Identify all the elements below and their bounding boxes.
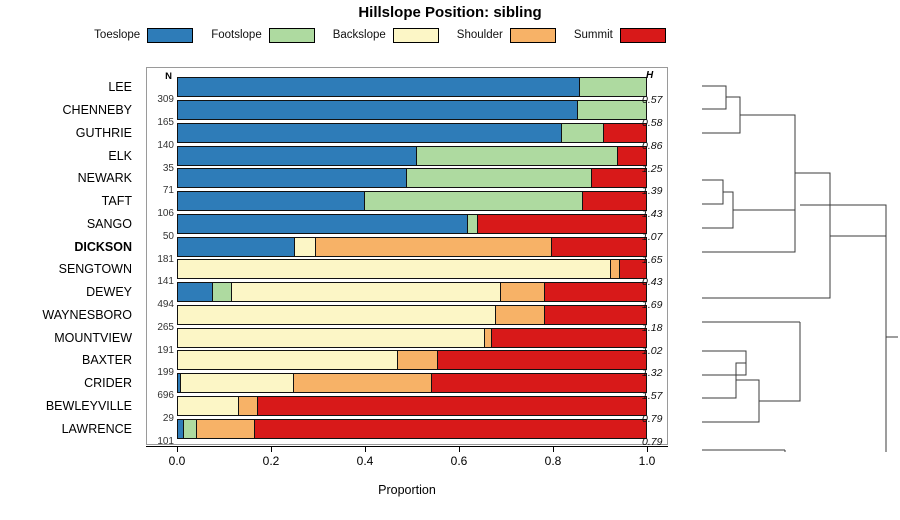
bar-segment-shoulder[interactable] (611, 260, 620, 278)
category-label: BAXTER (82, 354, 132, 367)
bar-segment-summit[interactable] (255, 420, 646, 438)
bar-segment-footslope[interactable] (417, 147, 618, 165)
legend-swatch-footslope (269, 28, 315, 43)
category-label: SANGO (87, 218, 132, 231)
x-tick-label: 0.8 (533, 454, 573, 468)
h-value: 1.02 (642, 346, 662, 357)
bar-segment-footslope[interactable] (468, 215, 477, 233)
h-value: 1.18 (642, 323, 662, 334)
x-tick (271, 446, 272, 452)
table-row[interactable] (177, 259, 647, 279)
stacked-bars (146, 67, 668, 445)
bar-segment-backslope[interactable] (178, 329, 485, 347)
h-value: 1.57 (642, 391, 662, 402)
bar-segment-backslope[interactable] (295, 238, 316, 256)
legend-swatch-shoulder (510, 28, 556, 43)
bar-segment-backslope[interactable] (232, 283, 501, 301)
table-row[interactable] (177, 419, 647, 439)
x-tick-label: 0.4 (345, 454, 385, 468)
category-label: LEE (108, 81, 132, 94)
bar-segment-footslope[interactable] (580, 78, 646, 96)
table-row[interactable] (177, 328, 647, 348)
category-label: CRIDER (84, 377, 132, 390)
bar-segment-summit[interactable] (552, 238, 646, 256)
x-tick (365, 446, 366, 452)
table-row[interactable] (177, 282, 647, 302)
bar-segment-summit[interactable] (432, 374, 646, 392)
bar-segment-shoulder[interactable] (485, 329, 492, 347)
dendrogram-svg (690, 60, 900, 452)
table-row[interactable] (177, 396, 647, 416)
x-tick (647, 446, 648, 452)
bar-segment-backslope[interactable] (178, 260, 611, 278)
category-label: LAWRENCE (62, 423, 132, 436)
bar-segment-shoulder[interactable] (501, 283, 545, 301)
bar-segment-shoulder[interactable] (197, 420, 256, 438)
bar-segment-footslope[interactable] (407, 169, 592, 187)
bar-segment-toeslope[interactable] (178, 215, 468, 233)
category-label: DICKSON (74, 241, 132, 254)
table-row[interactable] (177, 237, 647, 257)
bar-segment-toeslope[interactable] (178, 283, 213, 301)
table-row[interactable] (177, 168, 647, 188)
category-label: WAYNESBORO (42, 309, 132, 322)
legend-swatch-toeslope (147, 28, 193, 43)
x-axis-line (146, 446, 668, 447)
bar-segment-summit[interactable] (545, 306, 646, 324)
category-axis-labels: LEECHENNEBYGUTHRIEELKNEWARKTAFTSANGODICK… (0, 67, 140, 445)
chart-root: Hillslope Position: sibling ToeslopeFoot… (0, 0, 900, 520)
category-label: DEWEY (86, 286, 132, 299)
table-row[interactable] (177, 146, 647, 166)
category-label: TAFT (102, 195, 132, 208)
table-row[interactable] (177, 305, 647, 325)
h-value: 0.57 (642, 95, 662, 106)
legend-label: Summit (574, 29, 613, 41)
legend-label: Footslope (211, 29, 262, 41)
bar-segment-footslope[interactable] (562, 124, 604, 142)
legend-item-shoulder[interactable]: Shoulder (457, 28, 556, 43)
h-value: 0.58 (642, 118, 662, 129)
bar-segment-summit[interactable] (438, 351, 646, 369)
table-row[interactable] (177, 214, 647, 234)
h-value: 1.39 (642, 186, 662, 197)
bar-segment-toeslope[interactable] (178, 101, 578, 119)
bar-segment-shoulder[interactable] (316, 238, 552, 256)
table-row[interactable] (177, 123, 647, 143)
bar-segment-backslope[interactable] (178, 306, 496, 324)
x-tick-label: 0.6 (439, 454, 479, 468)
x-axis-title: Proportion (146, 483, 668, 497)
bar-segment-backslope[interactable] (178, 397, 239, 415)
bar-segment-footslope[interactable] (365, 192, 583, 210)
table-row[interactable] (177, 350, 647, 370)
bar-segment-toeslope[interactable] (178, 169, 407, 187)
bar-segment-backslope[interactable] (178, 351, 398, 369)
legend: ToeslopeFootslopeBackslopeShoulderSummit (0, 26, 760, 44)
table-row[interactable] (177, 191, 647, 211)
bar-segment-shoulder[interactable] (496, 306, 545, 324)
h-value: 0.86 (642, 141, 662, 152)
bar-segment-summit[interactable] (478, 215, 646, 233)
bar-segment-summit[interactable] (545, 283, 646, 301)
h-value: 1.65 (642, 255, 662, 266)
x-tick (459, 446, 460, 452)
legend-label: Toeslope (94, 29, 140, 41)
legend-swatch-summit (620, 28, 666, 43)
h-value: 1.25 (642, 164, 662, 175)
legend-item-backslope[interactable]: Backslope (333, 28, 439, 43)
x-tick (553, 446, 554, 452)
bar-segment-toeslope[interactable] (178, 124, 562, 142)
dendrogram (690, 60, 900, 452)
legend-item-footslope[interactable]: Footslope (211, 28, 315, 43)
x-tick-label: 1.0 (627, 454, 667, 468)
page-title: Hillslope Position: sibling (0, 4, 900, 21)
bar-segment-summit[interactable] (258, 397, 646, 415)
bar-segment-footslope[interactable] (578, 101, 646, 119)
h-value: 1.69 (642, 300, 662, 311)
legend-item-summit[interactable]: Summit (574, 28, 666, 43)
category-label: CHENNEBY (63, 104, 132, 117)
h-value: 0.43 (642, 277, 662, 288)
bar-segment-footslope[interactable] (213, 283, 232, 301)
bar-segment-shoulder[interactable] (239, 397, 258, 415)
x-tick-label: 0.0 (157, 454, 197, 468)
bar-segment-footslope[interactable] (184, 420, 197, 438)
bar-segment-summit[interactable] (583, 192, 646, 210)
legend-label: Backslope (333, 29, 386, 41)
h-value: 1.43 (642, 209, 662, 220)
category-label: MOUNTVIEW (54, 332, 132, 345)
bar-segment-backslope[interactable] (181, 374, 293, 392)
bar-segment-toeslope[interactable] (178, 147, 417, 165)
category-label: SENGTOWN (59, 263, 132, 276)
bar-segment-shoulder[interactable] (294, 374, 432, 392)
h-value: 0.79 (642, 414, 662, 425)
h-value: 1.32 (642, 368, 662, 379)
bar-segment-shoulder[interactable] (398, 351, 438, 369)
table-row[interactable] (177, 100, 647, 120)
x-tick (177, 446, 178, 452)
legend-item-toeslope[interactable]: Toeslope (94, 28, 193, 43)
h-column-header: H (646, 70, 653, 81)
category-label: NEWARK (78, 172, 132, 185)
h-column: H 0.570.580.861.251.391.431.071.650.431.… (640, 67, 668, 445)
bar-segment-toeslope[interactable] (178, 238, 295, 256)
category-label: GUTHRIE (76, 127, 132, 140)
bar-segment-summit[interactable] (592, 169, 646, 187)
category-label: BEWLEYVILLE (46, 400, 132, 413)
table-row[interactable] (177, 77, 647, 97)
x-tick-label: 0.2 (251, 454, 291, 468)
bar-segment-toeslope[interactable] (178, 192, 365, 210)
h-value: 1.07 (642, 232, 662, 243)
category-label: ELK (108, 150, 132, 163)
bar-segment-toeslope[interactable] (178, 78, 580, 96)
bar-segment-summit[interactable] (492, 329, 646, 347)
legend-label: Shoulder (457, 29, 503, 41)
table-row[interactable] (177, 373, 647, 393)
legend-swatch-backslope (393, 28, 439, 43)
